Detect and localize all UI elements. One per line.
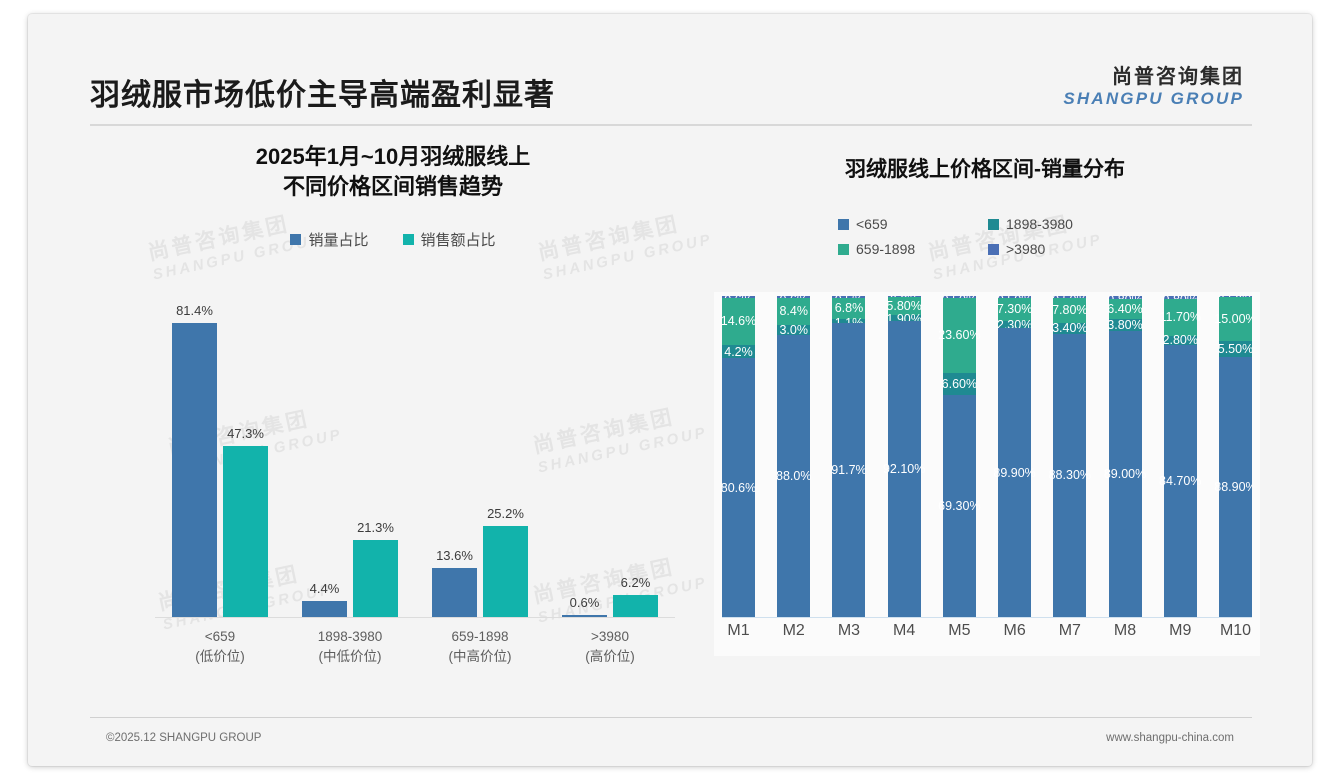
x-axis-tick-label: M8 bbox=[1114, 622, 1136, 640]
stacked-bar[interactable]: 0.2%5.80%1.90%92.10% bbox=[888, 296, 921, 617]
slide-header: 羽绒服市场低价主导高端盈利显著 尚普咨询集团 SHANGPU GROUP bbox=[28, 14, 1312, 118]
grouped-bar-chart: 81.4%47.3%<659 (低价位)4.4%21.3%1898-3980 (… bbox=[155, 292, 675, 656]
stacked-bar[interactable]: 0.50%15.00%5.50%88.90% bbox=[1219, 296, 1252, 617]
bar-value-label: 6.2% bbox=[621, 575, 651, 590]
bar-value-label: 21.3% bbox=[357, 520, 394, 535]
segment-value-label: 88.0% bbox=[776, 469, 811, 483]
stack-segment-1898-3980[interactable]: 5.50% bbox=[1219, 341, 1252, 357]
x-axis-tick-label: M10 bbox=[1220, 622, 1251, 640]
stack-segment-lt659[interactable]: 92.10% bbox=[888, 321, 921, 617]
stacked-bar[interactable]: 0.80%6.40%3.80%89.00% bbox=[1109, 296, 1142, 617]
legend-swatch-icon bbox=[838, 219, 849, 230]
bar-volume-share[interactable]: 0.6% bbox=[562, 615, 607, 617]
stack-segment-1898-3980[interactable]: 3.80% bbox=[1109, 319, 1142, 331]
x-axis-tick-label: M4 bbox=[893, 622, 915, 640]
bar-group: 0.6%6.2%>3980 (高价位) bbox=[545, 292, 675, 617]
footer-website: www.shangpu-china.com bbox=[1106, 732, 1234, 744]
x-axis-tick-label: >3980 (高价位) bbox=[535, 627, 685, 666]
x-axis-tick-label: M1 bbox=[727, 622, 749, 640]
brand-logo: 尚普咨询集团 SHANGPU GROUP bbox=[1063, 66, 1244, 109]
bar-value-label: 25.2% bbox=[487, 506, 524, 521]
bar-value-label: 81.4% bbox=[176, 303, 213, 318]
stacked-bar[interactable]: 0.6%8.4%3.0%88.0% bbox=[777, 296, 810, 617]
bar-group: 4.4%21.3%1898-3980 (中低价位) bbox=[285, 292, 415, 617]
stack-segment-659-1898[interactable]: 8.4% bbox=[777, 298, 810, 325]
slide-canvas: 羽绒服市场低价主导高端盈利显著 尚普咨询集团 SHANGPU GROUP 尚普咨… bbox=[28, 14, 1312, 766]
segment-value-label: 4.2% bbox=[724, 345, 753, 359]
stack-segment-lt659[interactable]: 88.90% bbox=[1219, 357, 1252, 617]
segment-value-label: 6.40% bbox=[1107, 302, 1142, 316]
stack-segment-lt659[interactable]: 88.0% bbox=[777, 335, 810, 617]
x-axis-tick-label: 659-1898 (中高价位) bbox=[405, 627, 555, 666]
stacked-bar[interactable]: 0.80%11.70%2.80%84.70% bbox=[1164, 296, 1197, 617]
segment-value-label: 6.8% bbox=[835, 301, 864, 315]
bar-sales-share[interactable]: 25.2% bbox=[483, 526, 528, 617]
logo-chinese-text: 尚普咨询集团 bbox=[1063, 66, 1244, 89]
x-axis-tick-label: M6 bbox=[1003, 622, 1025, 640]
right-chart-panel: 羽绒服线上价格区间-销量分布 <6591898-3980659-1898>398… bbox=[700, 142, 1270, 702]
stack-segment-lt659[interactable]: 88.30% bbox=[1053, 334, 1086, 617]
stacked-bar[interactable]: 0.50%23.60%6.60%69.30% bbox=[943, 296, 976, 617]
stacked-bar[interactable]: 0.50%7.30%2.30%89.90% bbox=[998, 296, 1031, 617]
stack-segment-lt659[interactable]: 91.7% bbox=[832, 323, 865, 617]
stack-segment-1898-3980[interactable]: 4.2% bbox=[722, 345, 755, 358]
bar-group: 13.6%25.2%659-1898 (中高价位) bbox=[415, 292, 545, 617]
stack-segment-lt659[interactable]: 89.00% bbox=[1109, 331, 1142, 617]
segment-value-label: 69.30% bbox=[938, 499, 980, 513]
bar-volume-share[interactable]: 4.4% bbox=[302, 601, 347, 617]
segment-value-label: 89.90% bbox=[993, 466, 1035, 480]
bar-value-label: 47.3% bbox=[227, 426, 264, 441]
bar-group: 81.4%47.3%<659 (低价位) bbox=[155, 292, 285, 617]
grouped-bar-plot-area: 81.4%47.3%<659 (低价位)4.4%21.3%1898-3980 (… bbox=[155, 292, 675, 618]
segment-value-label: 92.10% bbox=[883, 462, 925, 476]
right-legend-item[interactable]: 1898-3980 bbox=[988, 216, 1128, 232]
stacked-bar[interactable]: 0.50%7.80%3.40%88.30% bbox=[1053, 296, 1086, 617]
left-legend-item[interactable]: 销量占比 bbox=[290, 229, 368, 250]
bar-volume-share[interactable]: 13.6% bbox=[432, 568, 477, 617]
x-axis-tick-label: M7 bbox=[1059, 622, 1081, 640]
segment-value-label: 5.80% bbox=[886, 299, 921, 313]
legend-label: 销售额占比 bbox=[421, 229, 496, 250]
bar-value-label: 0.6% bbox=[570, 595, 600, 610]
stack-segment-lt659[interactable]: 69.30% bbox=[943, 395, 976, 617]
header-divider bbox=[90, 124, 1252, 126]
segment-value-label: 80.6% bbox=[722, 481, 756, 495]
stacked-bar-plot-area: 0.6%14.6%4.2%80.6%0.6%8.4%3.0%88.0%0.5%6… bbox=[722, 296, 1252, 618]
segment-value-label: 8.4% bbox=[779, 304, 808, 318]
stack-segment-1898-3980[interactable]: 6.60% bbox=[943, 373, 976, 394]
legend-swatch-icon bbox=[403, 234, 414, 245]
left-chart-title: 2025年1月~10月羽绒服线上 不同价格区间销售趋势 bbox=[113, 142, 673, 201]
stack-segment-659-1898[interactable]: 6.40% bbox=[1109, 299, 1142, 320]
right-legend-item[interactable]: <659 bbox=[838, 216, 978, 232]
footer-divider bbox=[90, 717, 1252, 718]
stack-segment-659-1898[interactable]: 15.00% bbox=[1219, 297, 1252, 341]
left-chart-legend: 销量占比销售额占比 bbox=[113, 229, 673, 250]
right-chart-legend: <6591898-3980659-1898>3980 bbox=[838, 216, 1128, 257]
stack-segment-659-1898[interactable]: 23.60% bbox=[943, 298, 976, 374]
segment-value-label: 23.60% bbox=[938, 328, 980, 342]
bar-sales-share[interactable]: 47.3% bbox=[223, 446, 268, 617]
legend-label: >3980 bbox=[1006, 241, 1045, 257]
segment-value-label: 5.50% bbox=[1218, 342, 1252, 356]
stack-segment-lt659[interactable]: 89.90% bbox=[998, 328, 1031, 617]
bar-sales-share[interactable]: 6.2% bbox=[613, 595, 658, 617]
bar-sales-share[interactable]: 21.3% bbox=[353, 540, 398, 617]
x-axis-tick-label: <659 (低价位) bbox=[145, 627, 295, 666]
footer-copyright: ©2025.12 SHANGPU GROUP bbox=[106, 732, 261, 744]
bar-volume-share[interactable]: 81.4% bbox=[172, 323, 217, 617]
legend-label: <659 bbox=[856, 216, 888, 232]
x-axis-tick-label: M3 bbox=[838, 622, 860, 640]
x-axis-tick-label: 1898-3980 (中低价位) bbox=[275, 627, 425, 666]
legend-label: 659-1898 bbox=[856, 241, 915, 257]
x-axis-tick-label: M2 bbox=[783, 622, 805, 640]
stack-segment-659-1898[interactable]: 7.80% bbox=[1053, 298, 1086, 323]
segment-value-label: 15.00% bbox=[1214, 312, 1252, 326]
logo-english-text: SHANGPU GROUP bbox=[1063, 89, 1244, 109]
segment-value-label: 89.00% bbox=[1104, 467, 1146, 481]
stack-segment-lt659[interactable]: 84.70% bbox=[1164, 345, 1197, 617]
right-chart-title: 羽绒服线上价格区间-销量分布 bbox=[700, 142, 1270, 184]
segment-value-label: 88.30% bbox=[1049, 468, 1091, 482]
stacked-bar[interactable]: 0.5%6.8%1.1%91.7% bbox=[832, 296, 865, 617]
left-legend-item[interactable]: 销售额占比 bbox=[403, 229, 496, 250]
stacked-bar-chart: 0.6%14.6%4.2%80.6%0.6%8.4%3.0%88.0%0.5%6… bbox=[714, 292, 1260, 656]
segment-value-label: 84.70% bbox=[1159, 474, 1201, 488]
right-legend-item[interactable]: >3980 bbox=[988, 241, 1128, 257]
stack-segment-659-1898[interactable]: 14.6% bbox=[722, 298, 755, 345]
legend-swatch-icon bbox=[290, 234, 301, 245]
stack-segment-1898-3980[interactable]: 3.40% bbox=[1053, 323, 1086, 334]
segment-value-label: 7.80% bbox=[1052, 303, 1087, 317]
legend-label: 销量占比 bbox=[308, 229, 368, 250]
legend-swatch-icon bbox=[838, 244, 849, 255]
x-axis-tick-label: M9 bbox=[1169, 622, 1191, 640]
stack-segment-1898-3980[interactable]: 2.30% bbox=[998, 321, 1031, 328]
legend-swatch-icon bbox=[988, 219, 999, 230]
segment-value-label: 91.7% bbox=[831, 463, 866, 477]
segment-value-label: 88.90% bbox=[1214, 480, 1252, 494]
legend-swatch-icon bbox=[988, 244, 999, 255]
right-legend-item[interactable]: 659-1898 bbox=[838, 241, 978, 257]
segment-value-label: 6.60% bbox=[942, 377, 977, 391]
legend-label: 1898-3980 bbox=[1006, 216, 1073, 232]
bar-value-label: 13.6% bbox=[436, 548, 473, 563]
segment-value-label: 14.6% bbox=[722, 314, 756, 328]
stack-segment-1898-3980[interactable]: 2.80% bbox=[1164, 336, 1197, 345]
x-axis-tick-label: M5 bbox=[948, 622, 970, 640]
stack-segment-lt659[interactable]: 80.6% bbox=[722, 358, 755, 617]
left-chart-panel: 2025年1月~10月羽绒服线上 不同价格区间销售趋势 销量占比销售额占比 81… bbox=[113, 142, 673, 702]
stacked-bar[interactable]: 0.6%14.6%4.2%80.6% bbox=[722, 296, 755, 617]
stack-segment-659-1898[interactable]: 11.70% bbox=[1164, 299, 1197, 337]
segment-value-label: 3.80% bbox=[1107, 318, 1142, 332]
page-title: 羽绒服市场低价主导高端盈利显著 bbox=[90, 70, 555, 114]
stack-segment-1898-3980[interactable]: 3.0% bbox=[777, 325, 810, 335]
segment-value-label: 11.70% bbox=[1160, 310, 1201, 324]
segment-value-label: 7.30% bbox=[997, 302, 1032, 316]
bar-value-label: 4.4% bbox=[310, 581, 340, 596]
